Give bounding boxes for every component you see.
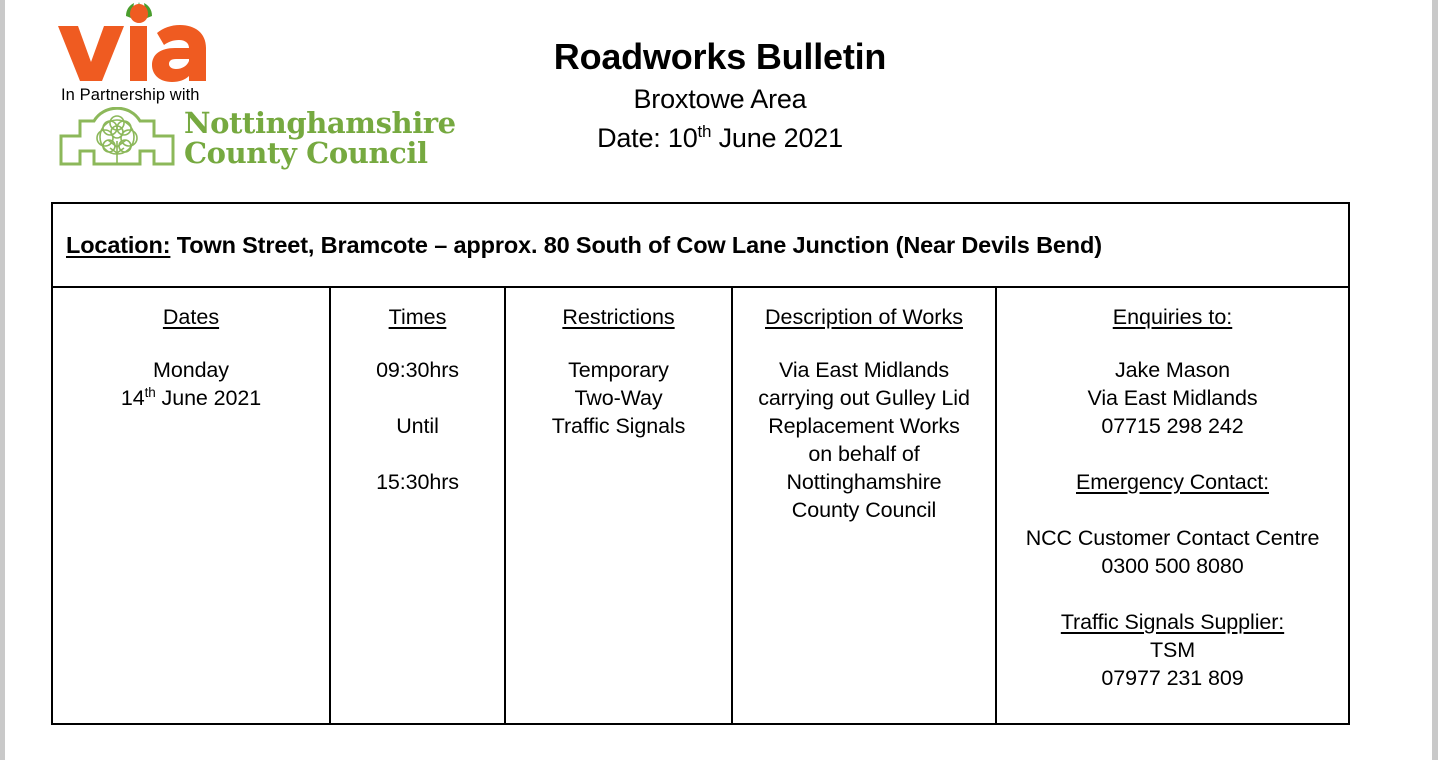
- column-description: Description of Works Via East Midlands c…: [733, 288, 997, 723]
- enquiries-gap-3: [997, 580, 1348, 608]
- description-line: Via East Midlands: [733, 356, 995, 384]
- times-end: 15:30hrs: [331, 468, 504, 496]
- restriction-line: Two-Way: [506, 384, 731, 412]
- signals-supplier-phone: 07977 231 809: [997, 664, 1348, 692]
- emergency-contact-org: NCC Customer Contact Centre: [997, 524, 1348, 552]
- column-restrictions: Restrictions Temporary Two-Way Traffic S…: [506, 288, 733, 723]
- partnership-label: In Partnership with: [61, 85, 456, 105]
- bulletin-date-suffix: June 2021: [711, 123, 843, 153]
- restriction-line: Temporary: [506, 356, 731, 384]
- description-line: Replacement Works: [733, 412, 995, 440]
- column-body-dates: Monday 14th June 2021: [53, 356, 329, 412]
- signals-supplier-org: TSM: [997, 636, 1348, 664]
- times-until: Until: [331, 412, 504, 440]
- column-body-enquiries: Jake Mason Via East Midlands 07715 298 2…: [997, 356, 1348, 692]
- column-body-restrictions: Temporary Two-Way Traffic Signals: [506, 356, 731, 440]
- description-line: Nottinghamshire: [733, 468, 995, 496]
- location-row: Location: Town Street, Bramcote – approx…: [53, 204, 1348, 288]
- column-header-description: Description of Works: [733, 302, 995, 332]
- column-header-enquiries: Enquiries to:: [997, 302, 1348, 332]
- location-value: Town Street, Bramcote – approx. 80 South…: [177, 232, 1102, 258]
- council-name-line1: Nottinghamshire: [184, 108, 456, 138]
- column-times: Times 09:30hrs Until 15:30hrs: [331, 288, 506, 723]
- location-text: Location: Town Street, Bramcote – approx…: [66, 232, 1102, 259]
- emergency-contact-phone: 0300 500 8080: [997, 552, 1348, 580]
- document-header: In Partnership with: [0, 0, 1439, 195]
- column-body-description: Via East Midlands carrying out Gulley Li…: [733, 356, 995, 524]
- column-body-times: 09:30hrs Until 15:30hrs: [331, 356, 504, 496]
- description-line: County Council: [733, 496, 995, 524]
- column-dates: Dates Monday 14th June 2021: [53, 288, 331, 723]
- detail-columns: Dates Monday 14th June 2021 Times 09:30h…: [53, 288, 1348, 723]
- bulletin-date-prefix: Date: 10: [597, 123, 697, 153]
- title-block: Roadworks Bulletin Broxtowe Area Date: 1…: [430, 34, 1010, 158]
- enquiries-gap-2: [997, 496, 1348, 524]
- column-header-times: Times: [331, 302, 504, 332]
- enquiries-gap-1: [997, 440, 1348, 468]
- via-logo: [56, 2, 208, 82]
- bulletin-date: Date: 10th June 2021: [430, 119, 1010, 158]
- signals-supplier-header: Traffic Signals Supplier:: [997, 608, 1348, 636]
- dates-day-number: 14: [121, 386, 145, 410]
- description-line: carrying out Gulley Lid: [733, 384, 995, 412]
- dates-full-date: 14th June 2021: [53, 384, 329, 412]
- column-enquiries: Enquiries to: Jake Mason Via East Midlan…: [997, 288, 1348, 723]
- area-subtitle: Broxtowe Area: [430, 80, 1010, 119]
- description-line: on behalf of: [733, 440, 995, 468]
- ncc-logo-row: Nottinghamshire County Council: [58, 107, 456, 169]
- council-wordmark: Nottinghamshire County Council: [184, 108, 456, 168]
- nottinghamshire-council-crest-icon: [58, 107, 176, 169]
- council-name-line2: County Council: [184, 138, 456, 168]
- column-header-restrictions: Restrictions: [506, 302, 731, 332]
- times-start: 09:30hrs: [331, 356, 504, 384]
- column-header-dates: Dates: [53, 302, 329, 332]
- times-gap-2: [331, 440, 504, 468]
- branding-block: In Partnership with: [56, 2, 456, 169]
- bulletin-date-ordinal: th: [698, 122, 712, 141]
- times-gap-1: [331, 384, 504, 412]
- dates-month-year: June 2021: [156, 386, 261, 410]
- dates-day-name: Monday: [53, 356, 329, 384]
- location-label: Location:: [66, 232, 170, 258]
- restriction-line: Traffic Signals: [506, 412, 731, 440]
- enquiries-contact-name: Jake Mason: [997, 356, 1348, 384]
- roadworks-table: Location: Town Street, Bramcote – approx…: [51, 202, 1350, 725]
- enquiries-contact-phone: 07715 298 242: [997, 412, 1348, 440]
- dates-day-ordinal: th: [145, 385, 156, 400]
- enquiries-contact-org: Via East Midlands: [997, 384, 1348, 412]
- page-title: Roadworks Bulletin: [430, 34, 1010, 80]
- emergency-contact-header: Emergency Contact:: [997, 468, 1348, 496]
